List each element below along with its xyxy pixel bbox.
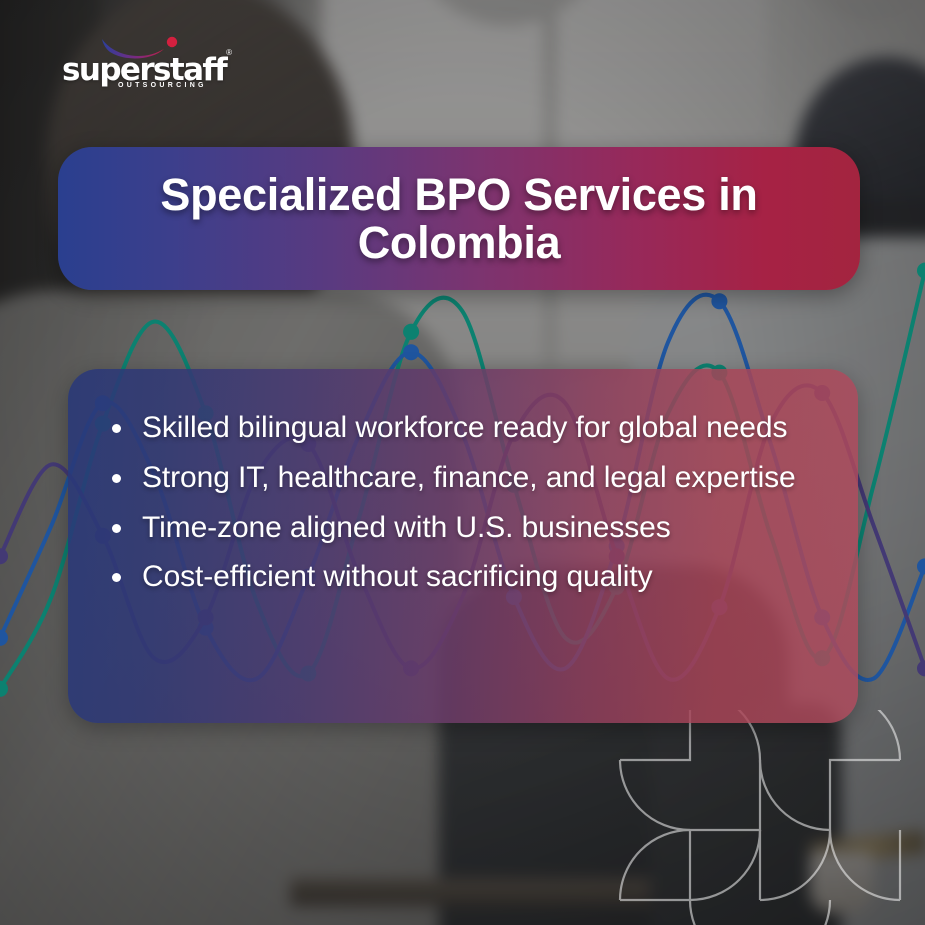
key-points-card: Skilled bilingual workforce ready for gl… (68, 369, 858, 723)
superstaff-logo[interactable]: superstaff ® OUTSOURCING (60, 38, 230, 86)
key-points-list: Skilled bilingual workforce ready for gl… (100, 403, 814, 602)
list-item: Strong IT, healthcare, finance, and lega… (100, 453, 814, 503)
slide-canvas: Specialized BPO Services in Colombia Ski… (0, 0, 925, 925)
list-item: Time-zone aligned with U.S. businesses (100, 503, 814, 553)
logo-tagline: OUTSOURCING (118, 82, 207, 89)
registered-mark: ® (226, 48, 232, 57)
list-item: Skilled bilingual workforce ready for gl… (100, 403, 814, 453)
logo-dot-icon (167, 37, 177, 47)
list-item: Cost-efficient without sacrificing quali… (100, 552, 814, 602)
